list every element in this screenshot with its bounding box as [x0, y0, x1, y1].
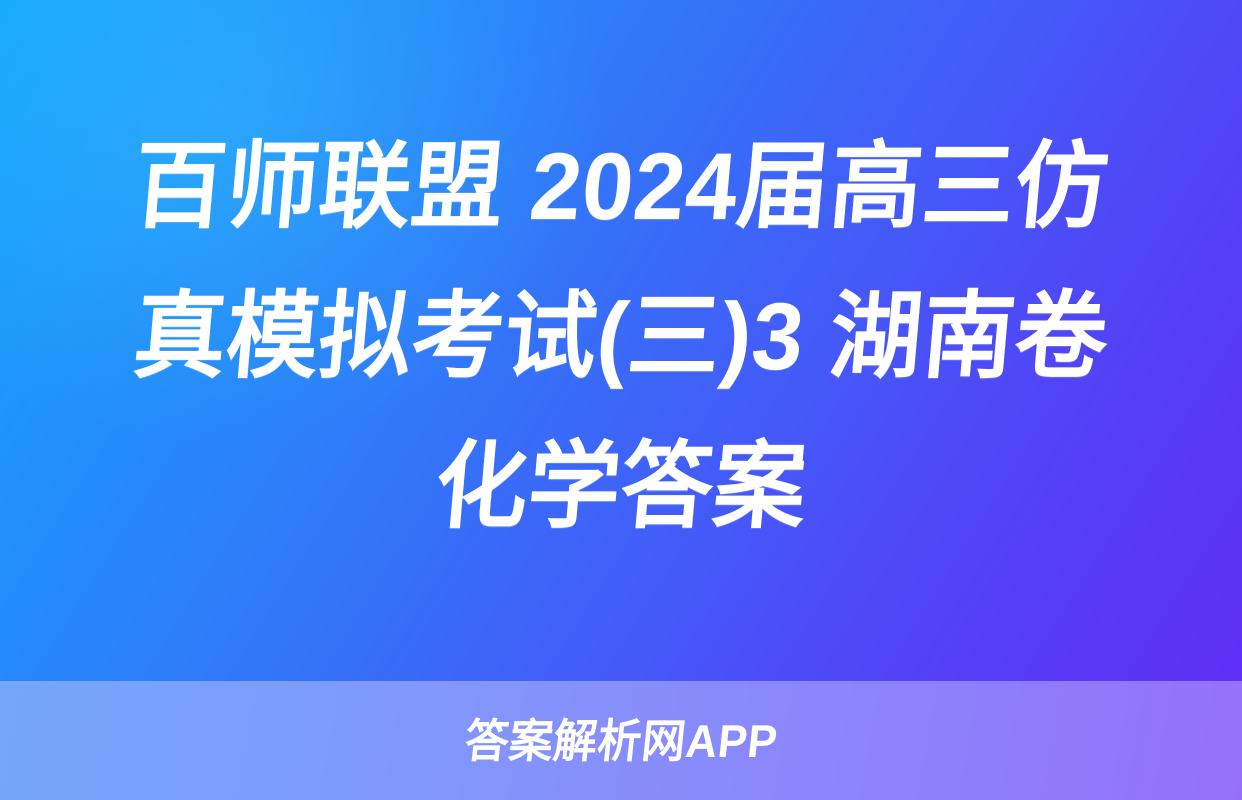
poster-screen: 百师联盟 2024届高三仿 真模拟考试(三)3 湖南卷 化学答案 答案解析网AP… — [0, 0, 1242, 800]
app-watermark-label: 答案解析网APP — [462, 717, 779, 765]
footer-watermark-band: 答案解析网APP — [0, 681, 1242, 800]
title-line-2: 真模拟考试(三)3 湖南卷 — [52, 262, 1190, 412]
page-title: 百师联盟 2024届高三仿 真模拟考试(三)3 湖南卷 化学答案 — [41, 112, 1201, 562]
title-line-3: 化学答案 — [52, 412, 1190, 562]
title-line-1: 百师联盟 2024届高三仿 — [52, 112, 1190, 262]
hero-gradient-panel: 百师联盟 2024届高三仿 真模拟考试(三)3 湖南卷 化学答案 — [0, 0, 1242, 681]
